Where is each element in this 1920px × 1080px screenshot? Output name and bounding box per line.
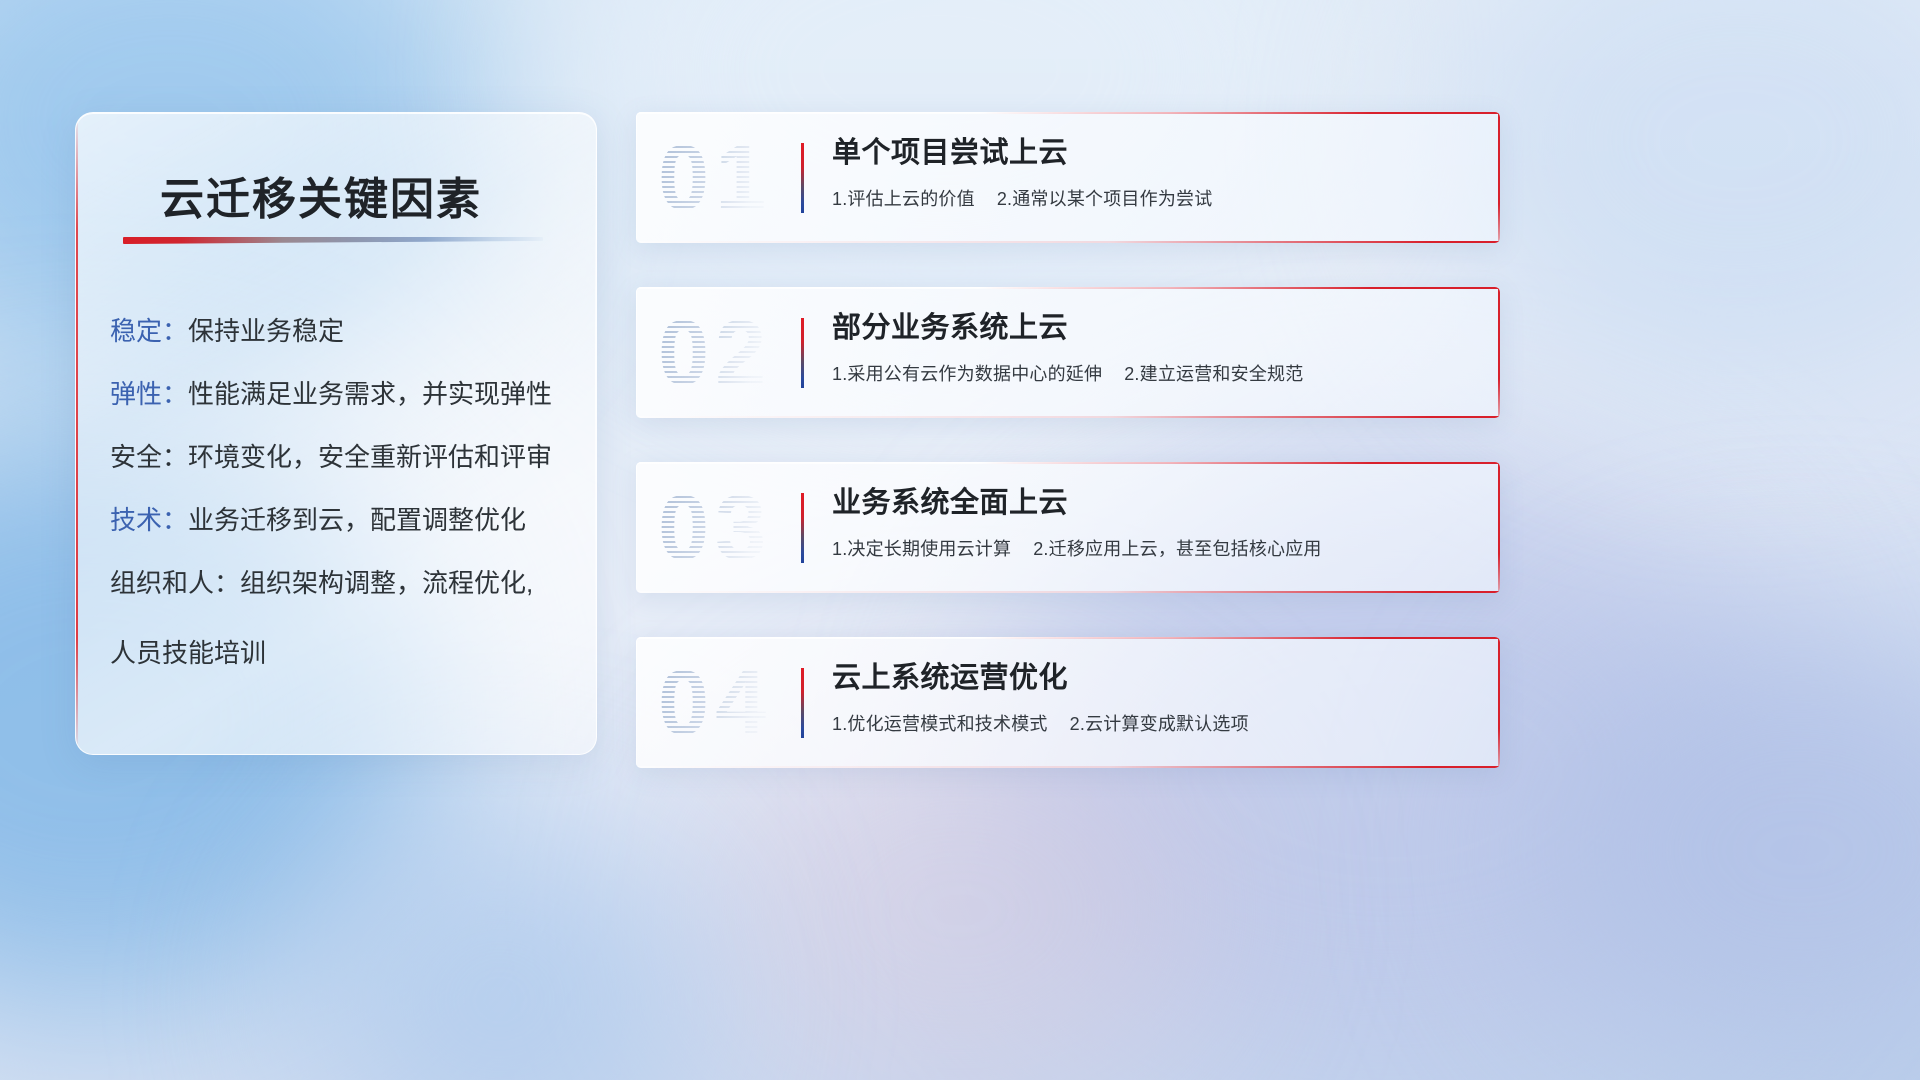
factor-label: 技术： [110, 505, 188, 535]
stage-card-02[interactable]: 02 部分业务系统上云 1.采用公有云作为数据中心的延伸2.建立运营和安全规范 [636, 287, 1500, 418]
stage-point-2: 2.通常以某个项目作为尝试 [997, 189, 1213, 209]
factor-label: 弹性： [110, 379, 188, 409]
card-edge-top [636, 112, 1500, 114]
stage-points: 1.评估上云的价值2.通常以某个项目作为尝试 [832, 185, 1476, 211]
factor-value: 性能满足业务需求，并实现弹性 [188, 379, 552, 409]
stage-divider-bar [801, 493, 804, 563]
stage-point-1: 1.采用公有云作为数据中心的延伸 [832, 364, 1102, 384]
stage-points: 1.优化运营模式和技术模式2.云计算变成默认选项 [832, 710, 1476, 736]
stage-card-01[interactable]: 01 单个项目尝试上云 1.评估上云的价值2.通常以某个项目作为尝试 [636, 112, 1500, 243]
stage-point-1: 1.优化运营模式和技术模式 [832, 714, 1048, 734]
factor-value: 组织架构调整，流程优化, [240, 568, 533, 598]
stage-card-04[interactable]: 04 云上系统运营优化 1.优化运营模式和技术模式2.云计算变成默认选项 [636, 637, 1500, 768]
stage-point-1: 1.决定长期使用云计算 [832, 539, 1011, 559]
stage-title: 云上系统运营优化 [832, 659, 1476, 698]
stage-body: 业务系统全面上云 1.决定长期使用云计算2.迁移应用上云，甚至包括核心应用 [832, 484, 1476, 561]
migration-stage-list: 01 单个项目尝试上云 1.评估上云的价值2.通常以某个项目作为尝试 02 部分… [636, 112, 1500, 812]
key-factors-list: 稳定：保持业务稳定 弹性：性能满足业务需求，并实现弹性 安全：环境变化，安全重新… [110, 318, 572, 670]
stage-point-2: 2.云计算变成默认选项 [1070, 714, 1249, 734]
stage-divider-bar [801, 143, 804, 213]
card-edge-right [1498, 112, 1500, 243]
stage-divider-bar [801, 668, 804, 738]
stage-point-1: 1.评估上云的价值 [832, 189, 975, 209]
list-item: 弹性：性能满足业务需求，并实现弹性 [110, 381, 572, 407]
list-item: 技术：业务迁移到云，配置调整优化 [110, 507, 572, 533]
key-factors-panel: 云迁移关键因素 稳定：保持业务稳定 弹性：性能满足业务需求，并实现弹性 安全：环… [75, 112, 597, 755]
card-edge-bottom [636, 591, 1500, 593]
card-edge-bottom [636, 766, 1500, 768]
card-edge-right [1498, 462, 1500, 593]
stage-body: 部分业务系统上云 1.采用公有云作为数据中心的延伸2.建立运营和安全规范 [832, 309, 1476, 386]
title-underline-gradient [123, 237, 543, 244]
factor-value: 保持业务稳定 [188, 316, 344, 346]
card-edge-top [636, 637, 1500, 639]
card-edge-bottom [636, 241, 1500, 243]
stage-title: 部分业务系统上云 [832, 309, 1476, 348]
list-item: 组织和人：组织架构调整，流程优化, [110, 570, 572, 596]
card-edge-left [636, 462, 637, 593]
card-edge-top [636, 462, 1500, 464]
factor-label: 稳定： [110, 316, 188, 346]
card-edge-right [1498, 287, 1500, 418]
stage-title: 单个项目尝试上云 [832, 134, 1476, 173]
factor-value-continuation: 人员技能培训 [110, 633, 572, 670]
stage-card-03[interactable]: 03 业务系统全面上云 1.决定长期使用云计算2.迁移应用上云，甚至包括核心应用 [636, 462, 1500, 593]
stage-title: 业务系统全面上云 [832, 484, 1476, 523]
stage-points: 1.决定长期使用云计算2.迁移应用上云，甚至包括核心应用 [832, 535, 1476, 561]
stage-number: 01 [658, 116, 772, 240]
card-edge-right [1498, 637, 1500, 768]
stage-number: 04 [658, 641, 772, 765]
stage-point-2: 2.迁移应用上云，甚至包括核心应用 [1033, 539, 1321, 559]
stage-number: 02 [658, 291, 772, 415]
card-edge-top [636, 287, 1500, 289]
card-edge-bottom [636, 416, 1500, 418]
card-edge-left [636, 112, 637, 243]
stage-body: 单个项目尝试上云 1.评估上云的价值2.通常以某个项目作为尝试 [832, 134, 1476, 211]
stage-points: 1.采用公有云作为数据中心的延伸2.建立运营和安全规范 [832, 360, 1476, 386]
stage-number: 03 [658, 466, 772, 590]
card-edge-left [636, 637, 637, 768]
factor-value: 业务迁移到云，配置调整优化 [188, 505, 526, 535]
stage-body: 云上系统运营优化 1.优化运营模式和技术模式2.云计算变成默认选项 [832, 659, 1476, 736]
factor-label: 安全： [110, 442, 188, 472]
stage-divider-bar [801, 318, 804, 388]
list-item: 安全：环境变化，安全重新评估和评审 [110, 444, 572, 470]
stage-point-2: 2.建立运营和安全规范 [1124, 364, 1303, 384]
card-edge-left [636, 287, 637, 418]
page-title: 云迁移关键因素 [160, 163, 482, 227]
list-item: 稳定：保持业务稳定 [110, 318, 572, 344]
factor-label: 组织和人： [110, 568, 240, 598]
factor-value: 环境变化，安全重新评估和评审 [188, 442, 552, 472]
